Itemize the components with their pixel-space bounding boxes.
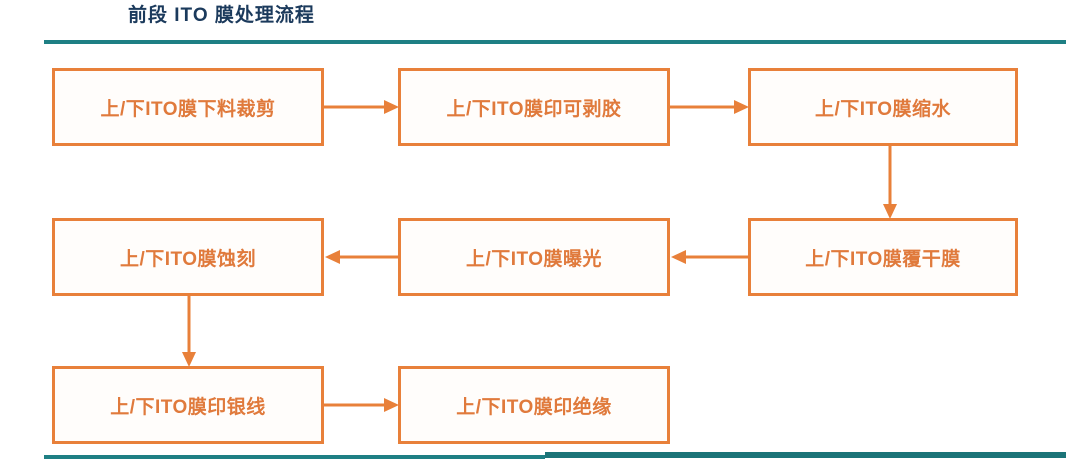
flow-node-8[interactable]: 上/下ITO膜印绝缘 <box>398 366 670 444</box>
flow-node-label: 上/下ITO膜缩水 <box>815 94 951 121</box>
arrow-node3-to-node4 <box>873 146 907 220</box>
flow-node-6[interactable]: 上/下ITO膜蚀刻 <box>52 218 324 296</box>
title-underline-rule <box>44 40 1066 44</box>
flow-node-label: 上/下ITO膜印银线 <box>110 392 266 419</box>
footer-rule-right <box>545 452 1066 458</box>
flow-node-5[interactable]: 上/下ITO膜曝光 <box>398 218 670 296</box>
footer-rule-left <box>44 455 545 459</box>
flow-node-label: 上/下ITO膜覆干膜 <box>805 244 961 271</box>
arrow-node5-to-node6 <box>324 247 400 267</box>
flow-node-7[interactable]: 上/下ITO膜印银线 <box>52 366 324 444</box>
flow-node-3[interactable]: 上/下ITO膜缩水 <box>748 68 1018 146</box>
arrow-node6-to-node7 <box>172 296 206 368</box>
page-title: 前段 ITO 膜处理流程 <box>128 3 315 29</box>
flow-node-label: 上/下ITO膜蚀刻 <box>120 244 256 271</box>
flow-node-2[interactable]: 上/下ITO膜印可剥胶 <box>398 68 670 146</box>
flow-node-label: 上/下ITO膜下料裁剪 <box>100 94 275 121</box>
arrow-node7-to-node8 <box>324 395 400 415</box>
diagram-canvas: 前段 ITO 膜处理流程 上/下ITO膜下料裁剪 上/下ITO膜印可剥胶 上/下… <box>0 0 1070 465</box>
flow-node-4[interactable]: 上/下ITO膜覆干膜 <box>748 218 1018 296</box>
arrow-node2-to-node3 <box>670 97 750 117</box>
flow-node-1[interactable]: 上/下ITO膜下料裁剪 <box>52 68 324 146</box>
arrow-node1-to-node2 <box>324 97 400 117</box>
flow-node-label: 上/下ITO膜印绝缘 <box>456 392 612 419</box>
flow-node-label: 上/下ITO膜印可剥胶 <box>446 94 621 121</box>
flow-node-label: 上/下ITO膜曝光 <box>466 244 602 271</box>
arrow-node4-to-node5 <box>670 247 750 267</box>
